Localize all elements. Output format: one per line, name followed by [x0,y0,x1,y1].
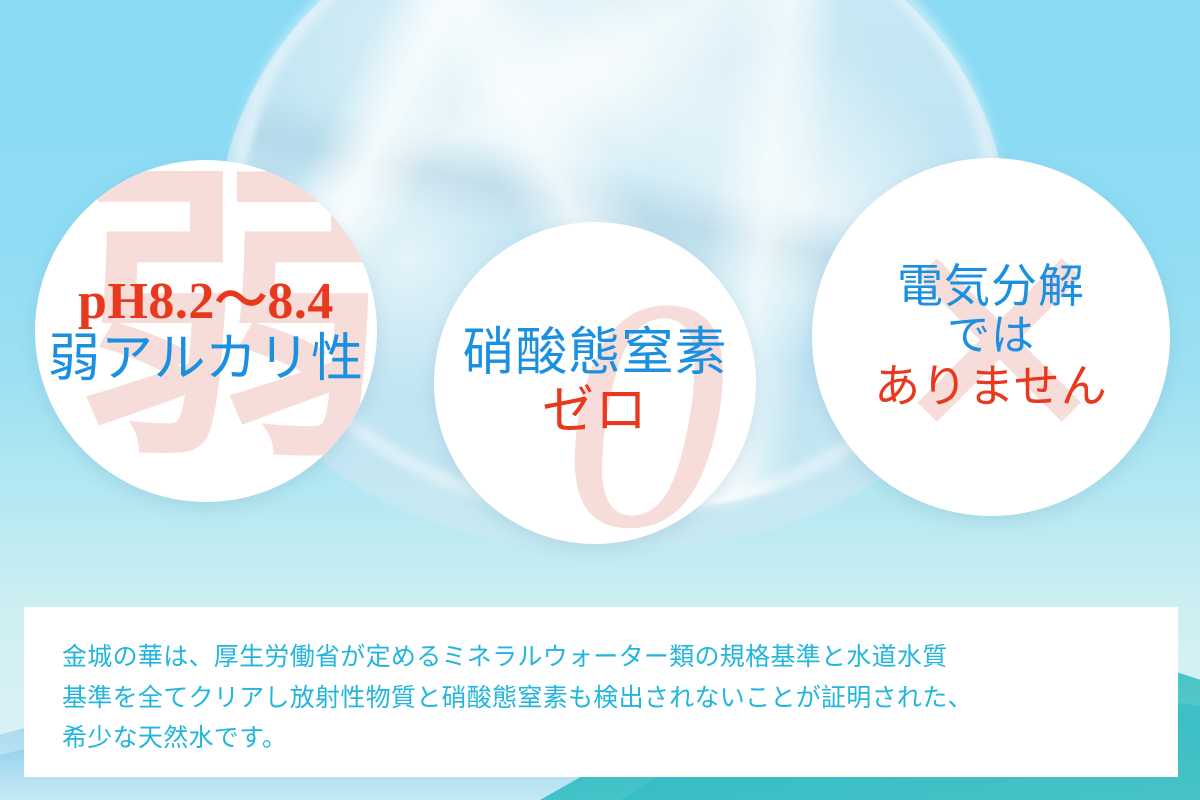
ph-label-line: 弱アルカリ性 [48,331,364,389]
feature-circle-nitrate-text: 硝酸態窒素 ゼロ [462,325,727,441]
nitrate-label-line: 硝酸態窒素 [462,325,727,383]
description-panel: 金城の華は、厚生労働省が定めるミネラルウォーター類の規格基準と水道水質 基準を全… [24,607,1178,777]
feature-circle-nitrate: 0 硝酸態窒素 ゼロ [434,222,756,544]
promo-banner: 弱 pH8.2〜8.4 弱アルカリ性 0 硝酸態窒素 ゼロ ✕ 電気分解 では … [0,0,1200,800]
feature-circle-ph-text: pH8.2〜8.4 弱アルカリ性 [48,273,364,389]
electrolysis-line-2: では [874,313,1108,361]
electrolysis-line-1: 電気分解 [874,261,1108,313]
nitrate-value-line: ゼロ [462,383,727,441]
feature-circle-ph: 弱 pH8.2〜8.4 弱アルカリ性 [35,160,377,502]
feature-circle-electrolysis: ✕ 電気分解 では ありません [812,158,1170,516]
description-text: 金城の華は、厚生労働省が定めるミネラルウォーター類の規格基準と水道水質 基準を全… [62,637,1144,759]
ph-value-line: pH8.2〜8.4 [48,273,364,331]
feature-circle-electrolysis-text: 電気分解 では ありません [874,261,1108,412]
electrolysis-line-3: ありません [874,361,1108,413]
